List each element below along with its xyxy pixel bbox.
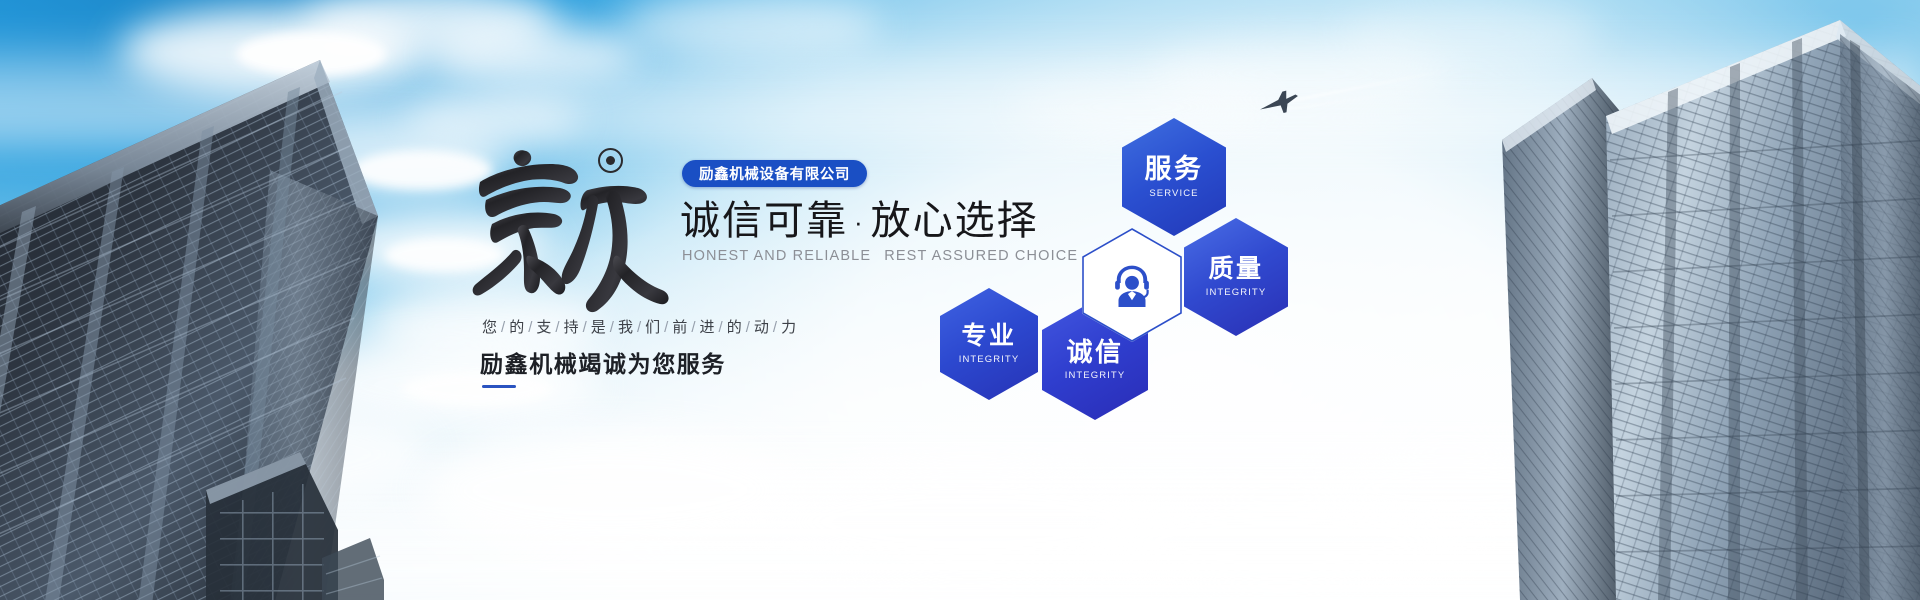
tagline-slashed: 您/的/支/持/是/我/们/前/进/的/动/力 bbox=[482, 316, 797, 337]
hexagon-service-en: SERVICE bbox=[1149, 188, 1198, 199]
tagline-slash: / bbox=[580, 319, 591, 336]
brush-calligraphy-shili bbox=[470, 138, 680, 328]
tagline-slash: / bbox=[525, 319, 536, 336]
tagline-slash: / bbox=[770, 319, 781, 336]
hexagon-badge-cluster: 服务 SERVICE 质量 INTEGRITY 诚信 INTEGRITY 专业 … bbox=[920, 110, 1310, 410]
glass-office-tower-left bbox=[0, 60, 530, 600]
hexagon-badge-service[interactable]: 服务 SERVICE bbox=[1122, 118, 1226, 236]
slogan-en-left: HONEST AND RELIABLE bbox=[682, 248, 871, 264]
tagline-char: 的 bbox=[509, 319, 525, 336]
tagline-slash: / bbox=[607, 319, 618, 336]
company-name-badge: 励鑫机械设备有限公司 bbox=[682, 160, 867, 187]
tagline-char: 动 bbox=[754, 319, 770, 336]
tagline-slash: / bbox=[552, 319, 563, 336]
tagline-slash: / bbox=[716, 319, 727, 336]
tagline-char: 是 bbox=[591, 319, 607, 336]
hexagon-pro-cn: 专业 bbox=[961, 323, 1016, 349]
tagline-main: 励鑫机械竭诚为您服务 bbox=[480, 345, 726, 379]
tagline-slash: / bbox=[743, 319, 754, 336]
tagline-slash: / bbox=[498, 319, 509, 336]
slogan-separator: · bbox=[848, 207, 871, 237]
tagline-char: 们 bbox=[645, 319, 661, 336]
tagline-char: 您 bbox=[482, 319, 498, 336]
company-name-text: 励鑫机械设备有限公司 bbox=[699, 163, 850, 184]
tagline-slash: / bbox=[661, 319, 672, 336]
hexagon-quality-cn: 质量 bbox=[1208, 256, 1263, 282]
hexagon-badge-quality[interactable]: 质量 INTEGRITY bbox=[1184, 218, 1288, 336]
hexagon-service-cn: 服务 bbox=[1145, 155, 1204, 183]
hexagon-avatar-outline bbox=[1082, 228, 1182, 342]
tagline-char: 前 bbox=[672, 319, 688, 336]
glass-office-tower-right bbox=[1410, 20, 1920, 600]
slogan-cn-left: 诚信可靠 bbox=[680, 199, 848, 243]
tagline-char: 持 bbox=[564, 319, 580, 336]
accent-rule bbox=[482, 385, 516, 388]
tagline-char: 力 bbox=[781, 319, 797, 336]
tagline-char: 的 bbox=[727, 319, 743, 336]
tagline-char: 支 bbox=[536, 319, 552, 336]
hexagon-trust-cn: 诚信 bbox=[1066, 339, 1123, 366]
tagline-slash: / bbox=[688, 319, 699, 336]
tagline-char: 进 bbox=[700, 319, 716, 336]
hexagon-pro-en: INTEGRITY bbox=[959, 354, 1020, 365]
registered-dot-mark bbox=[598, 148, 623, 173]
hexagon-badge-professional[interactable]: 专业 INTEGRITY bbox=[940, 288, 1038, 400]
tagline-slash: / bbox=[634, 319, 645, 336]
hexagon-trust-en: INTEGRITY bbox=[1065, 370, 1126, 381]
tagline-char: 我 bbox=[618, 319, 634, 336]
hexagon-quality-en: INTEGRITY bbox=[1206, 287, 1267, 298]
hero-banner: 励鑫机械设备有限公司 诚信可靠·放心选择 HONEST AND RELIABLE… bbox=[0, 0, 1920, 600]
